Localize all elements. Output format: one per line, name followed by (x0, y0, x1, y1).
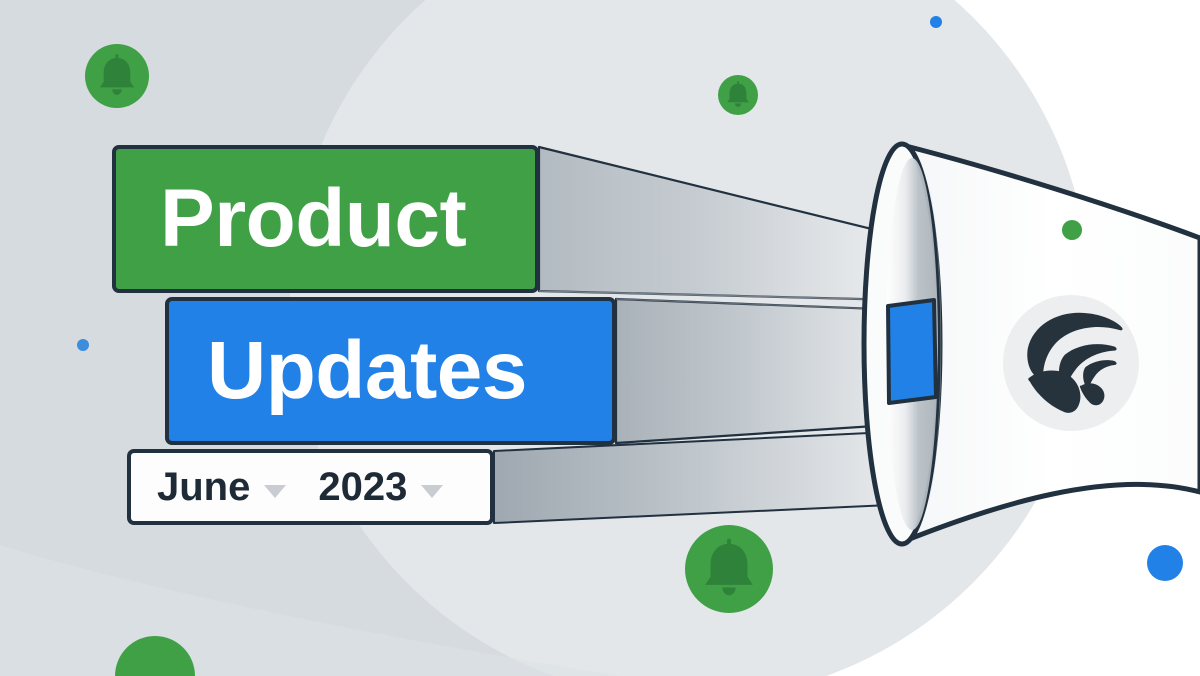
megaphone-illustration (864, 144, 1200, 544)
chevron-down-icon[interactable] (421, 485, 443, 498)
title-bar-updates: Updates (165, 297, 616, 445)
bell-badge-bottom (685, 525, 773, 613)
dot-green-on-horn (1062, 220, 1082, 240)
title-line-2: Updates (207, 330, 527, 412)
title-bar-product: Product (112, 145, 539, 293)
hero-banner: Product Updates June 2023 (0, 0, 1200, 676)
dot-blue-large-bottom (1147, 545, 1183, 581)
megaphone-speaker-patch (888, 300, 936, 403)
brand-logo-icon (1003, 295, 1139, 431)
bell-badge-top-middle (718, 75, 758, 115)
year-label[interactable]: 2023 (318, 467, 407, 507)
month-label[interactable]: June (157, 467, 250, 507)
green-circle-bottom-left (115, 636, 195, 676)
date-selector-bar: June 2023 (127, 449, 494, 525)
dot-blue-small-left (77, 339, 89, 351)
title-line-1: Product (160, 178, 466, 260)
chevron-down-icon[interactable] (264, 485, 286, 498)
dot-blue-small-top (930, 16, 942, 28)
bell-badge-top-left (85, 44, 149, 108)
